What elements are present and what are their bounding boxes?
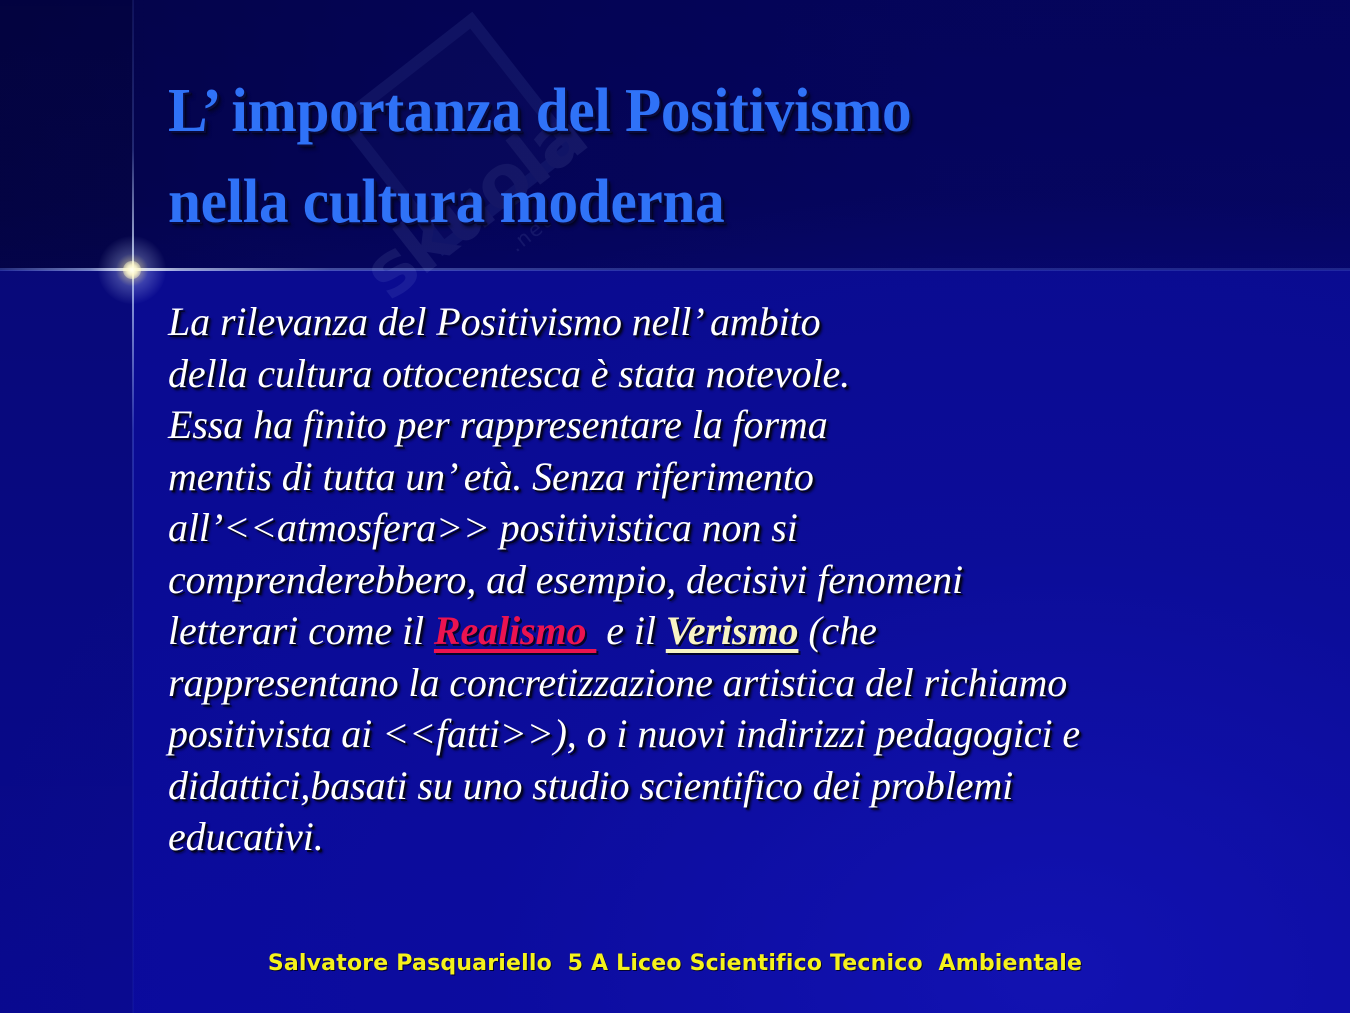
- slide-body-text: La rilevanza del Positivismo nell’ ambit…: [168, 296, 1303, 863]
- highlight-verismo: Verismo: [666, 608, 799, 653]
- slide-footer: Salvatore Pasquariello 5 A Liceo Scienti…: [0, 951, 1350, 976]
- body-line-segment: (che: [798, 608, 876, 653]
- body-line: comprenderebbero, ad esempio, decisivi f…: [168, 554, 1303, 606]
- horizontal-divider-line: [0, 268, 1350, 271]
- body-line: Essa ha finito per rappresentare la form…: [168, 399, 1303, 451]
- body-line: rappresentano la concretizzazione artist…: [168, 657, 1303, 709]
- body-line: all’<<atmosfera>> positivistica non si: [168, 502, 1303, 554]
- body-line: educativi.: [168, 811, 1303, 863]
- presentation-slide: skuola .net L’ importanza del Positivism…: [0, 0, 1350, 1013]
- body-line: La rilevanza del Positivismo nell’ ambit…: [168, 296, 1303, 348]
- body-line-segment: letterari come il: [168, 608, 434, 653]
- vertical-divider-line: [132, 0, 134, 1013]
- body-line: della cultura ottocentesca è stata notev…: [168, 348, 1303, 400]
- slide-title: L’ importanza del Positivismo nella cult…: [168, 66, 1228, 248]
- highlight-realismo: Realismo: [434, 608, 596, 653]
- body-line: didattici,basati su uno studio scientifi…: [168, 760, 1303, 812]
- body-line: positivista ai <<fatti>>), o i nuovi ind…: [168, 708, 1303, 760]
- body-line-with-highlights: letterari come il Realismo e il Verismo …: [168, 605, 1303, 657]
- body-line: mentis di tutta un’ età. Senza riferimen…: [168, 451, 1303, 503]
- body-line-segment: e il: [596, 608, 665, 653]
